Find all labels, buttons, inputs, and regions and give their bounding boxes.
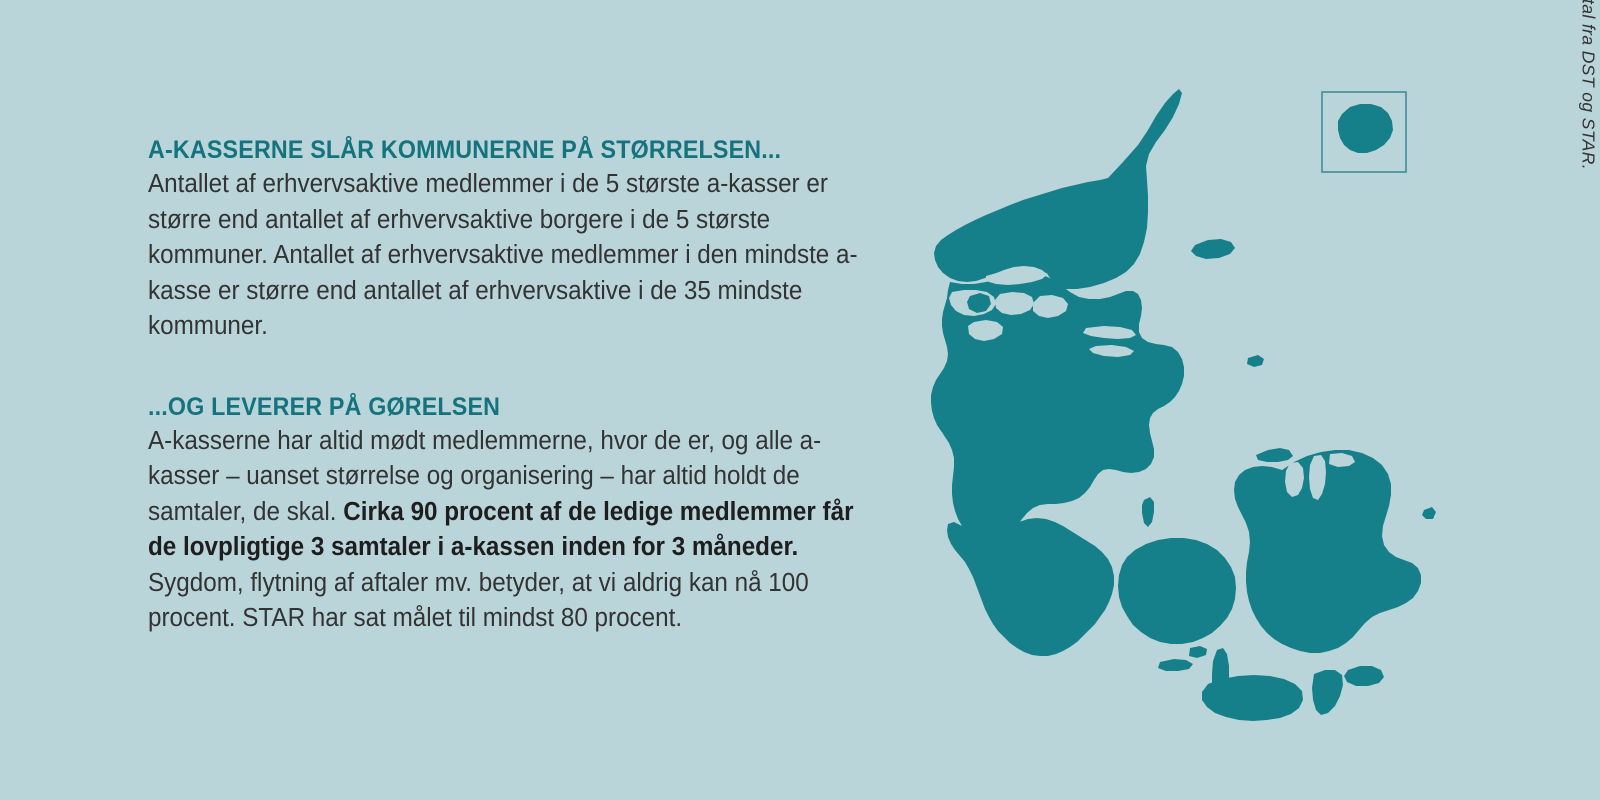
west-coast-lagoon-water: [951, 568, 962, 609]
lolland-island: [1202, 675, 1303, 721]
samso-island: [1142, 497, 1154, 527]
ringkobing-fjord-water: [932, 430, 947, 477]
denmark-map-svg: [890, 70, 1490, 720]
falster-island: [1312, 670, 1343, 715]
bornholm-island: [1338, 104, 1393, 153]
source-credit: Kilde: DAK på baggrund af tal fra DST og…: [1578, 0, 1599, 170]
mon-island: [1344, 666, 1384, 686]
tasinge-island: [1189, 646, 1207, 658]
funen-island: [1118, 538, 1236, 644]
section-delivery-heading: ...OG LEVERER PÅ GØRELSEN: [148, 393, 855, 421]
section-size-heading: A-KASSERNE SLÅR KOMMUNERNE PÅ STØRRELSEN…: [148, 136, 855, 164]
zealand-island: [1234, 450, 1421, 653]
small-islet-east: [1422, 507, 1436, 519]
anholt-island: [1247, 355, 1264, 367]
section-size-body: Antallet af erhvervsaktive medlemmer i d…: [148, 167, 870, 345]
text-column: A-KASSERNE SLÅR KOMMUNERNE PÅ STØRRELSEN…: [148, 136, 908, 637]
infographic-canvas: A-KASSERNE SLÅR KOMMUNERNE PÅ STØRRELSEN…: [0, 0, 1600, 800]
section-delivery-body: A-kasserne har altid mødt medlemmerne, h…: [148, 424, 870, 637]
laeso-island: [1191, 239, 1235, 259]
denmark-map: [890, 70, 1490, 720]
jutland-south-landmass: [947, 518, 1114, 656]
koge-bay-water: [1390, 520, 1407, 547]
jutland-north-landmass: [934, 89, 1182, 289]
odsherred-peninsula: [1256, 448, 1293, 462]
aero-island: [1158, 659, 1193, 671]
section-spacer: [148, 345, 908, 393]
